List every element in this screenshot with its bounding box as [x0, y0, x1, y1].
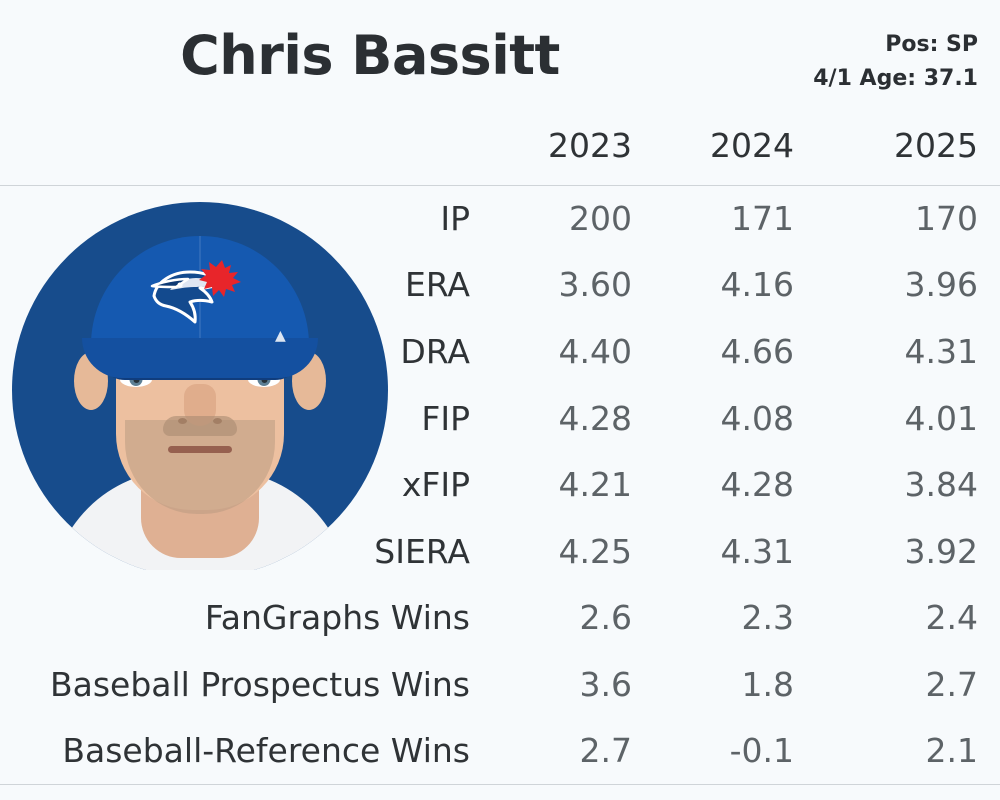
card-header: Chris Bassitt Pos: SP 4/1 Age: 37.1 — [0, 0, 1000, 125]
stat-value-bp-wins-2024: 1.8 — [654, 651, 816, 718]
stat-value-dra-2023: 4.40 — [492, 318, 654, 385]
stat-value-bref-wins-2025: 2.1 — [816, 718, 1000, 785]
stat-value-dra-2024: 4.66 — [654, 318, 816, 385]
column-header-2025[interactable]: 2025 — [816, 125, 1000, 185]
stat-value-fip-2024: 4.08 — [654, 385, 816, 452]
stats-table-head: 2023 2024 2025 — [0, 125, 1000, 185]
stat-value-ip-2024: 171 — [654, 185, 816, 252]
table-row: Baseball Prospectus Wins 3.6 1.8 2.7 — [0, 651, 1000, 718]
stat-value-siera-2023: 4.25 — [492, 518, 654, 585]
stat-value-xfip-2025: 3.84 — [816, 451, 1000, 518]
table-row: xFIP 4.21 4.28 3.84 — [0, 451, 1000, 518]
stat-value-fangraphs-wins-2024: 2.3 — [654, 585, 816, 652]
table-row: FanGraphs Wins 2.6 2.3 2.4 — [0, 585, 1000, 652]
stat-label-xfip: xFIP — [0, 451, 492, 518]
stat-value-fangraphs-wins-2025: 2.4 — [816, 585, 1000, 652]
stat-value-fangraphs-wins-2023: 2.6 — [492, 585, 654, 652]
stat-label-fangraphs-wins: FanGraphs Wins — [0, 585, 492, 652]
stat-label-era: ERA — [0, 252, 492, 319]
page-title: Chris Bassitt — [0, 26, 740, 85]
stat-value-xfip-2023: 4.21 — [492, 451, 654, 518]
stat-value-ip-2023: 200 — [492, 185, 654, 252]
stat-label-dra: DRA — [0, 318, 492, 385]
table-row: Baseball-Reference Wins 2.7 -0.1 2.1 — [0, 718, 1000, 785]
stat-value-siera-2024: 4.31 — [654, 518, 816, 585]
stat-label-bp-wins: Baseball Prospectus Wins — [0, 651, 492, 718]
stat-value-fip-2023: 4.28 — [492, 385, 654, 452]
stat-value-bp-wins-2025: 2.7 — [816, 651, 1000, 718]
stat-value-bref-wins-2023: 2.7 — [492, 718, 654, 785]
stats-table: 2023 2024 2025 IP 200 171 170 ERA 3.60 4… — [0, 125, 1000, 785]
stat-value-fip-2025: 4.01 — [816, 385, 1000, 452]
column-header-2024[interactable]: 2024 — [654, 125, 816, 185]
table-row: FIP 4.28 4.08 4.01 — [0, 385, 1000, 452]
stat-label-bref-wins: Baseball-Reference Wins — [0, 718, 492, 785]
stat-value-era-2025: 3.96 — [816, 252, 1000, 319]
stats-table-body: IP 200 171 170 ERA 3.60 4.16 3.96 DRA 4.… — [0, 185, 1000, 784]
stat-value-bref-wins-2024: -0.1 — [654, 718, 816, 785]
stat-value-era-2024: 4.16 — [654, 252, 816, 319]
position-label: Pos: SP — [813, 28, 978, 62]
stat-value-xfip-2024: 4.28 — [654, 451, 816, 518]
age-label: 4/1 Age: 37.1 — [813, 62, 978, 96]
column-header-2023[interactable]: 2023 — [492, 125, 654, 185]
table-row: DRA 4.40 4.66 4.31 — [0, 318, 1000, 385]
stat-label-fip: FIP — [0, 385, 492, 452]
table-row: SIERA 4.25 4.31 3.92 — [0, 518, 1000, 585]
stat-label-ip: IP — [0, 185, 492, 252]
table-header-row: 2023 2024 2025 — [0, 125, 1000, 185]
player-stat-card: Chris Bassitt Pos: SP 4/1 Age: 37.1 — [0, 0, 1000, 800]
player-meta: Pos: SP 4/1 Age: 37.1 — [813, 28, 978, 96]
stat-value-ip-2025: 170 — [816, 185, 1000, 252]
column-header-stat — [0, 125, 492, 185]
table-row: IP 200 171 170 — [0, 185, 1000, 252]
stat-value-era-2023: 3.60 — [492, 252, 654, 319]
stat-value-bp-wins-2023: 3.6 — [492, 651, 654, 718]
table-row: ERA 3.60 4.16 3.96 — [0, 252, 1000, 319]
stat-value-siera-2025: 3.92 — [816, 518, 1000, 585]
stat-value-dra-2025: 4.31 — [816, 318, 1000, 385]
stat-label-siera: SIERA — [0, 518, 492, 585]
